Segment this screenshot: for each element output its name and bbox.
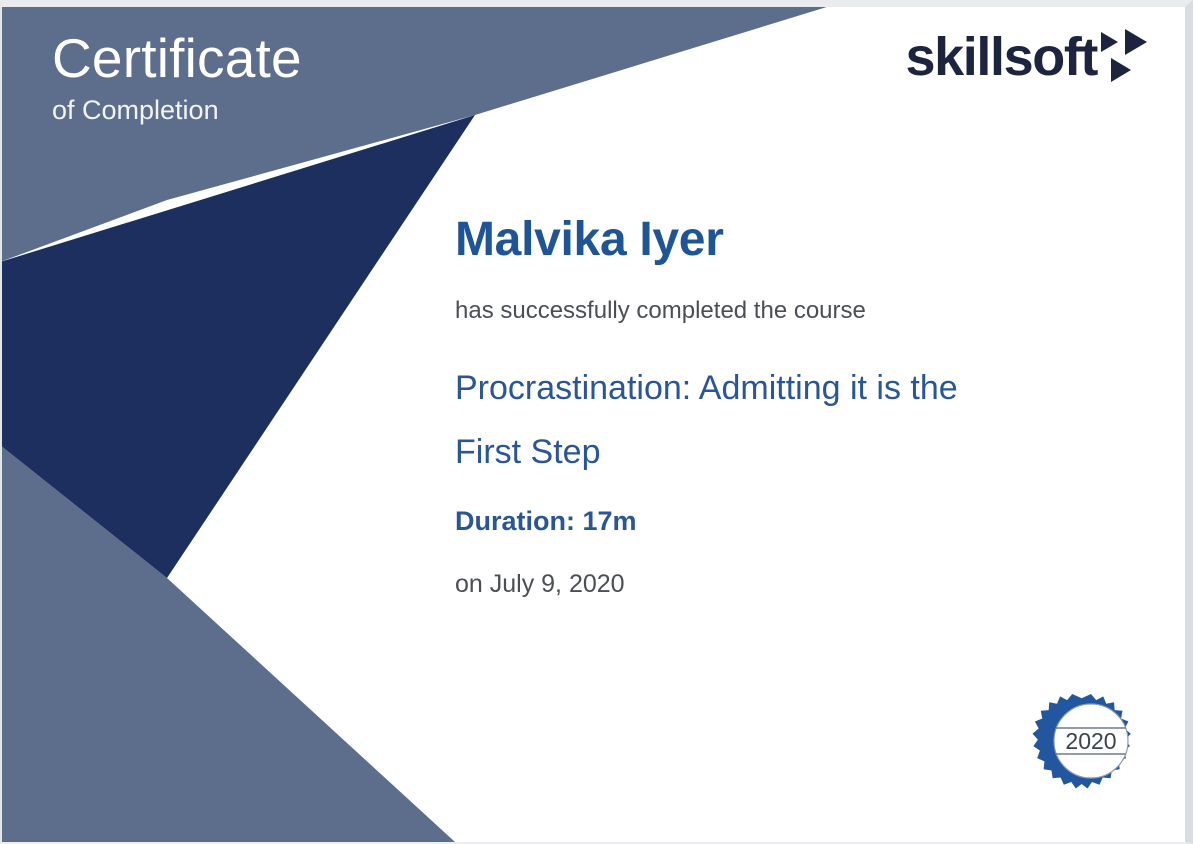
skillsoft-wordmark: skillsoft [906,30,1097,84]
triple-play-triangle-icon [1099,32,1157,88]
certificate-header: Certificate of Completion [52,28,302,126]
play-triangle-icon-large [1125,29,1147,55]
award-seal-icon: 2020 [1032,692,1150,810]
completion-statement: has successfully completed the course [455,296,1095,326]
course-title: Procrastination: Admitting it is the Fir… [455,356,1000,484]
play-triangle-icon-small [1101,32,1118,52]
certificate-body: Malvika Iyer has successfully completed … [455,212,1095,600]
play-triangle-icon-medium [1111,58,1131,82]
seal-year-label: 2020 [1065,728,1116,754]
completion-date: on July 9, 2020 [455,568,1095,600]
course-duration: Duration: 17m [455,504,1095,538]
skillsoft-logo: skillsoft [906,30,1157,88]
page-title: Certificate [52,28,302,88]
page-subtitle: of Completion [52,94,302,126]
recipient-name: Malvika Iyer [455,212,1095,268]
certificate-page: Certificate of Completion skillsoft Malv… [0,0,1193,844]
